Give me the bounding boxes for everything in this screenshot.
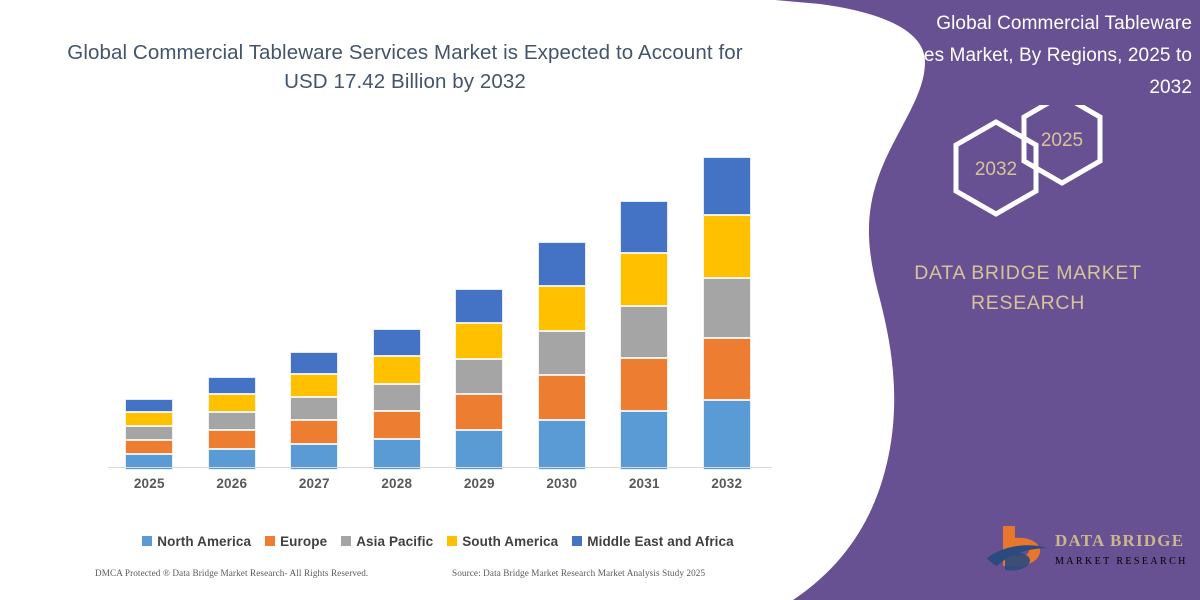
legend-label-asia-pacific: Asia Pacific xyxy=(356,534,433,549)
bar-segment-asia-pacific xyxy=(208,412,256,430)
bar-2030 xyxy=(538,242,586,470)
bar-segment-europe xyxy=(125,440,173,454)
legend-item-middle-east-and-africa[interactable]: Middle East and Africa xyxy=(572,534,733,549)
hexagon-2032-label: 2032 xyxy=(975,159,1017,180)
x-axis-label-2027: 2027 xyxy=(290,476,338,491)
bar-segment-middle-east-and-africa xyxy=(125,399,173,412)
bar-segment-south-america xyxy=(125,412,173,426)
chart-legend: North AmericaEuropeAsia PacificSouth Ame… xyxy=(108,530,768,552)
bar-segment-north-america xyxy=(703,400,751,470)
bar-segment-middle-east-and-africa xyxy=(703,157,751,215)
bar-segment-asia-pacific xyxy=(455,359,503,394)
bar-2029 xyxy=(455,289,503,470)
bar-segment-middle-east-and-africa xyxy=(620,201,668,253)
footer: DMCA Protected ® Data Bridge Market Rese… xyxy=(0,568,790,588)
bar-2025 xyxy=(125,399,173,470)
x-axis-label-2031: 2031 xyxy=(620,476,668,491)
bar-segment-europe xyxy=(620,358,668,411)
bar-segment-middle-east-and-africa xyxy=(538,242,586,286)
x-axis-label-2028: 2028 xyxy=(373,476,421,491)
legend-item-south-america[interactable]: South America xyxy=(447,534,558,549)
x-axis-label-2026: 2026 xyxy=(208,476,256,491)
x-axis-label-2030: 2030 xyxy=(538,476,586,491)
bar-segment-asia-pacific xyxy=(373,384,421,411)
bar-segment-europe xyxy=(373,411,421,439)
x-axis-line xyxy=(108,467,772,468)
panel-content: Global Commercial Tableware Services Mar… xyxy=(860,0,1200,600)
bar-segment-south-america xyxy=(455,323,503,359)
legend-swatch-north-america xyxy=(142,536,152,546)
bar-2028 xyxy=(373,329,421,470)
stacked-bar-plot xyxy=(108,140,768,470)
bar-segment-south-america xyxy=(620,253,668,306)
legend-swatch-south-america xyxy=(447,536,457,546)
x-axis-label-2032: 2032 xyxy=(703,476,751,491)
chart-area: Global Commercial Tableware Services Mar… xyxy=(0,0,800,600)
bar-segment-north-america xyxy=(620,411,668,470)
logo-mark-icon xyxy=(987,526,1047,571)
bar-segment-north-america xyxy=(538,420,586,470)
legend-swatch-middle-east-and-africa xyxy=(572,536,582,546)
chart-title: Global Commercial Tableware Services Mar… xyxy=(60,38,750,96)
bar-segment-south-america xyxy=(538,286,586,331)
x-axis-label-2025: 2025 xyxy=(125,476,173,491)
bar-segment-south-america xyxy=(703,215,751,278)
bar-segment-middle-east-and-africa xyxy=(290,352,338,374)
legend-item-europe[interactable]: Europe xyxy=(265,534,327,549)
footer-dmca-text: DMCA Protected ® Data Bridge Market Rese… xyxy=(95,568,368,578)
footer-source-text: Source: Data Bridge Market Research Mark… xyxy=(452,568,705,578)
legend-label-europe: Europe xyxy=(280,534,327,549)
logo-main-text: DATA BRIDGE xyxy=(1055,531,1184,550)
bar-segment-south-america xyxy=(290,374,338,397)
x-axis-labels: 20252026202720282029203020312032 xyxy=(108,476,768,498)
legend-swatch-europe xyxy=(265,536,275,546)
bar-segment-europe xyxy=(538,375,586,420)
bar-segment-asia-pacific xyxy=(538,331,586,375)
legend-label-north-america: North America xyxy=(157,534,251,549)
hexagon-badges: 2032 2025 xyxy=(920,105,1180,230)
bar-segment-south-america xyxy=(373,356,421,384)
hexagon-2025-label: 2025 xyxy=(1041,130,1083,151)
bar-segment-asia-pacific xyxy=(620,306,668,358)
data-bridge-logo: DATA BRIDGE MARKET RESEARCH xyxy=(985,518,1185,580)
bar-segment-middle-east-and-africa xyxy=(208,377,256,394)
bar-2032 xyxy=(703,157,751,470)
legend-label-middle-east-and-africa: Middle East and Africa xyxy=(587,534,733,549)
bar-segment-middle-east-and-africa xyxy=(373,329,421,356)
legend-item-north-america[interactable]: North America xyxy=(142,534,251,549)
bar-segment-south-america xyxy=(208,394,256,412)
bar-segment-asia-pacific xyxy=(703,278,751,338)
brand-name: DATA BRIDGE MARKET RESEARCH xyxy=(868,258,1188,318)
legend-item-asia-pacific[interactable]: Asia Pacific xyxy=(341,534,433,549)
x-axis-label-2029: 2029 xyxy=(455,476,503,491)
legend-swatch-asia-pacific xyxy=(341,536,351,546)
bar-segment-europe xyxy=(703,338,751,400)
bar-segment-north-america xyxy=(455,430,503,470)
bar-segment-middle-east-and-africa xyxy=(455,289,503,323)
infographic-canvas: Global Commercial Tableware Services Mar… xyxy=(0,0,1200,600)
bar-segment-north-america xyxy=(373,439,421,470)
bar-segment-europe xyxy=(208,430,256,449)
bar-2026 xyxy=(208,377,256,470)
bar-segment-europe xyxy=(290,420,338,444)
bar-2027 xyxy=(290,352,338,470)
bar-segment-europe xyxy=(455,394,503,430)
panel-title: Global Commercial Tableware Services Mar… xyxy=(860,8,1192,104)
bar-segment-asia-pacific xyxy=(125,426,173,440)
bar-segment-asia-pacific xyxy=(290,397,338,420)
logo-sub-text: MARKET RESEARCH xyxy=(1055,556,1185,567)
bar-2031 xyxy=(620,201,668,470)
legend-label-south-america: South America xyxy=(462,534,558,549)
